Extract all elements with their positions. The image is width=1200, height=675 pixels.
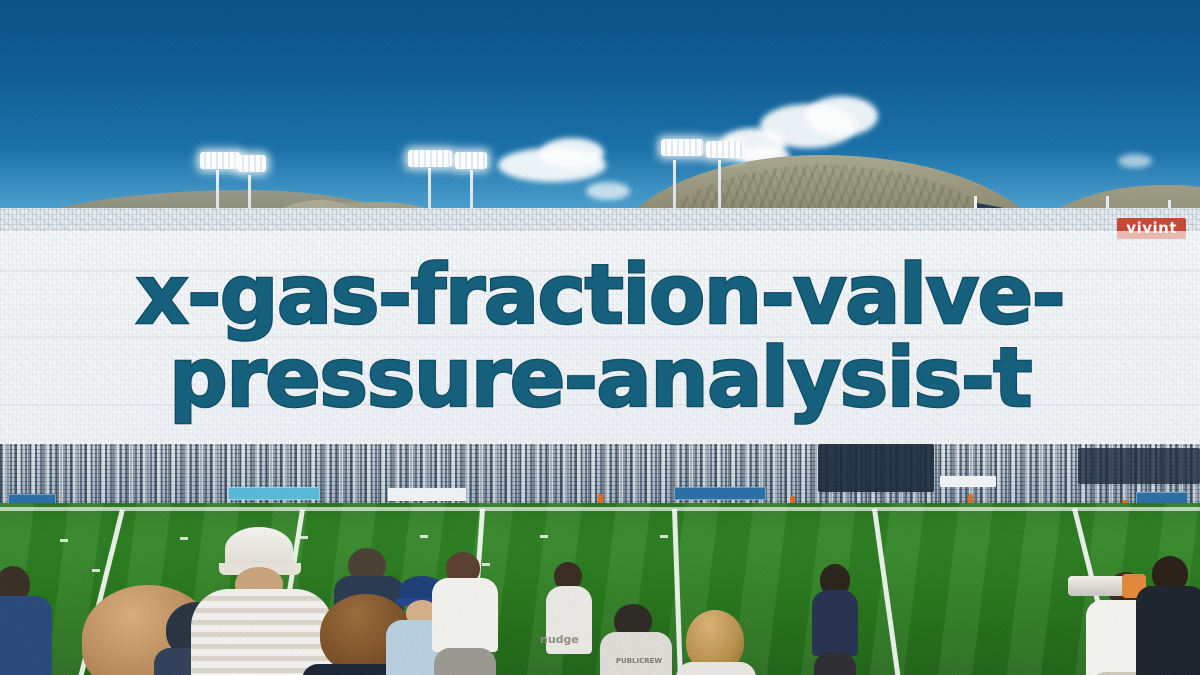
sideline-banner-white bbox=[388, 488, 466, 501]
title-line-1: x-gas-fraction-valve- bbox=[136, 257, 1064, 336]
hash-mark bbox=[60, 539, 68, 542]
cloud-far-left bbox=[586, 182, 630, 200]
spectator-body bbox=[1136, 586, 1200, 675]
hash-mark bbox=[420, 535, 428, 538]
light-bank-1b bbox=[238, 155, 266, 172]
camera-lens bbox=[1068, 576, 1126, 596]
hash-mark bbox=[180, 537, 188, 540]
light-bank-2 bbox=[408, 150, 452, 167]
sideline-banner-white-2 bbox=[940, 476, 996, 487]
sideline-banner-local bbox=[674, 487, 766, 500]
hash-mark bbox=[660, 535, 668, 538]
spectator-body bbox=[676, 662, 756, 675]
title-overlay-band: x-gas-fraction-valve- pressure-analysis-… bbox=[0, 231, 1200, 444]
spectator-pants bbox=[434, 648, 496, 675]
hash-mark bbox=[482, 563, 490, 566]
cloud-mid-left-b bbox=[540, 138, 604, 168]
spectator-body bbox=[191, 589, 333, 675]
stadium-tunnel bbox=[818, 444, 934, 492]
light-bank-3b bbox=[706, 141, 742, 158]
sideline-banner-teal bbox=[228, 487, 320, 500]
shirt-text-publicrew: PUBLICREW bbox=[606, 658, 672, 665]
hash-mark bbox=[300, 536, 308, 539]
hash-mark bbox=[540, 535, 548, 538]
spectator-body bbox=[812, 590, 858, 656]
spectator-pants bbox=[814, 652, 856, 675]
banner-image: vivint 10 2 bbox=[0, 0, 1200, 675]
cloud-far-right bbox=[1118, 154, 1152, 168]
light-bank-1 bbox=[200, 152, 240, 169]
hash-mark bbox=[92, 569, 100, 572]
spectator-body bbox=[600, 632, 672, 675]
field-sideline bbox=[0, 507, 1200, 511]
shirt-text-nudge: nudge bbox=[540, 634, 579, 645]
cloud-right-big-b bbox=[806, 96, 878, 136]
light-bank-2b bbox=[455, 152, 487, 169]
spectator-body bbox=[0, 596, 52, 675]
spectator-body bbox=[432, 578, 498, 652]
title-line-2: pressure-analysis-t bbox=[169, 340, 1031, 419]
light-bank-3 bbox=[661, 139, 703, 156]
stadium-wall-right bbox=[1078, 448, 1200, 484]
